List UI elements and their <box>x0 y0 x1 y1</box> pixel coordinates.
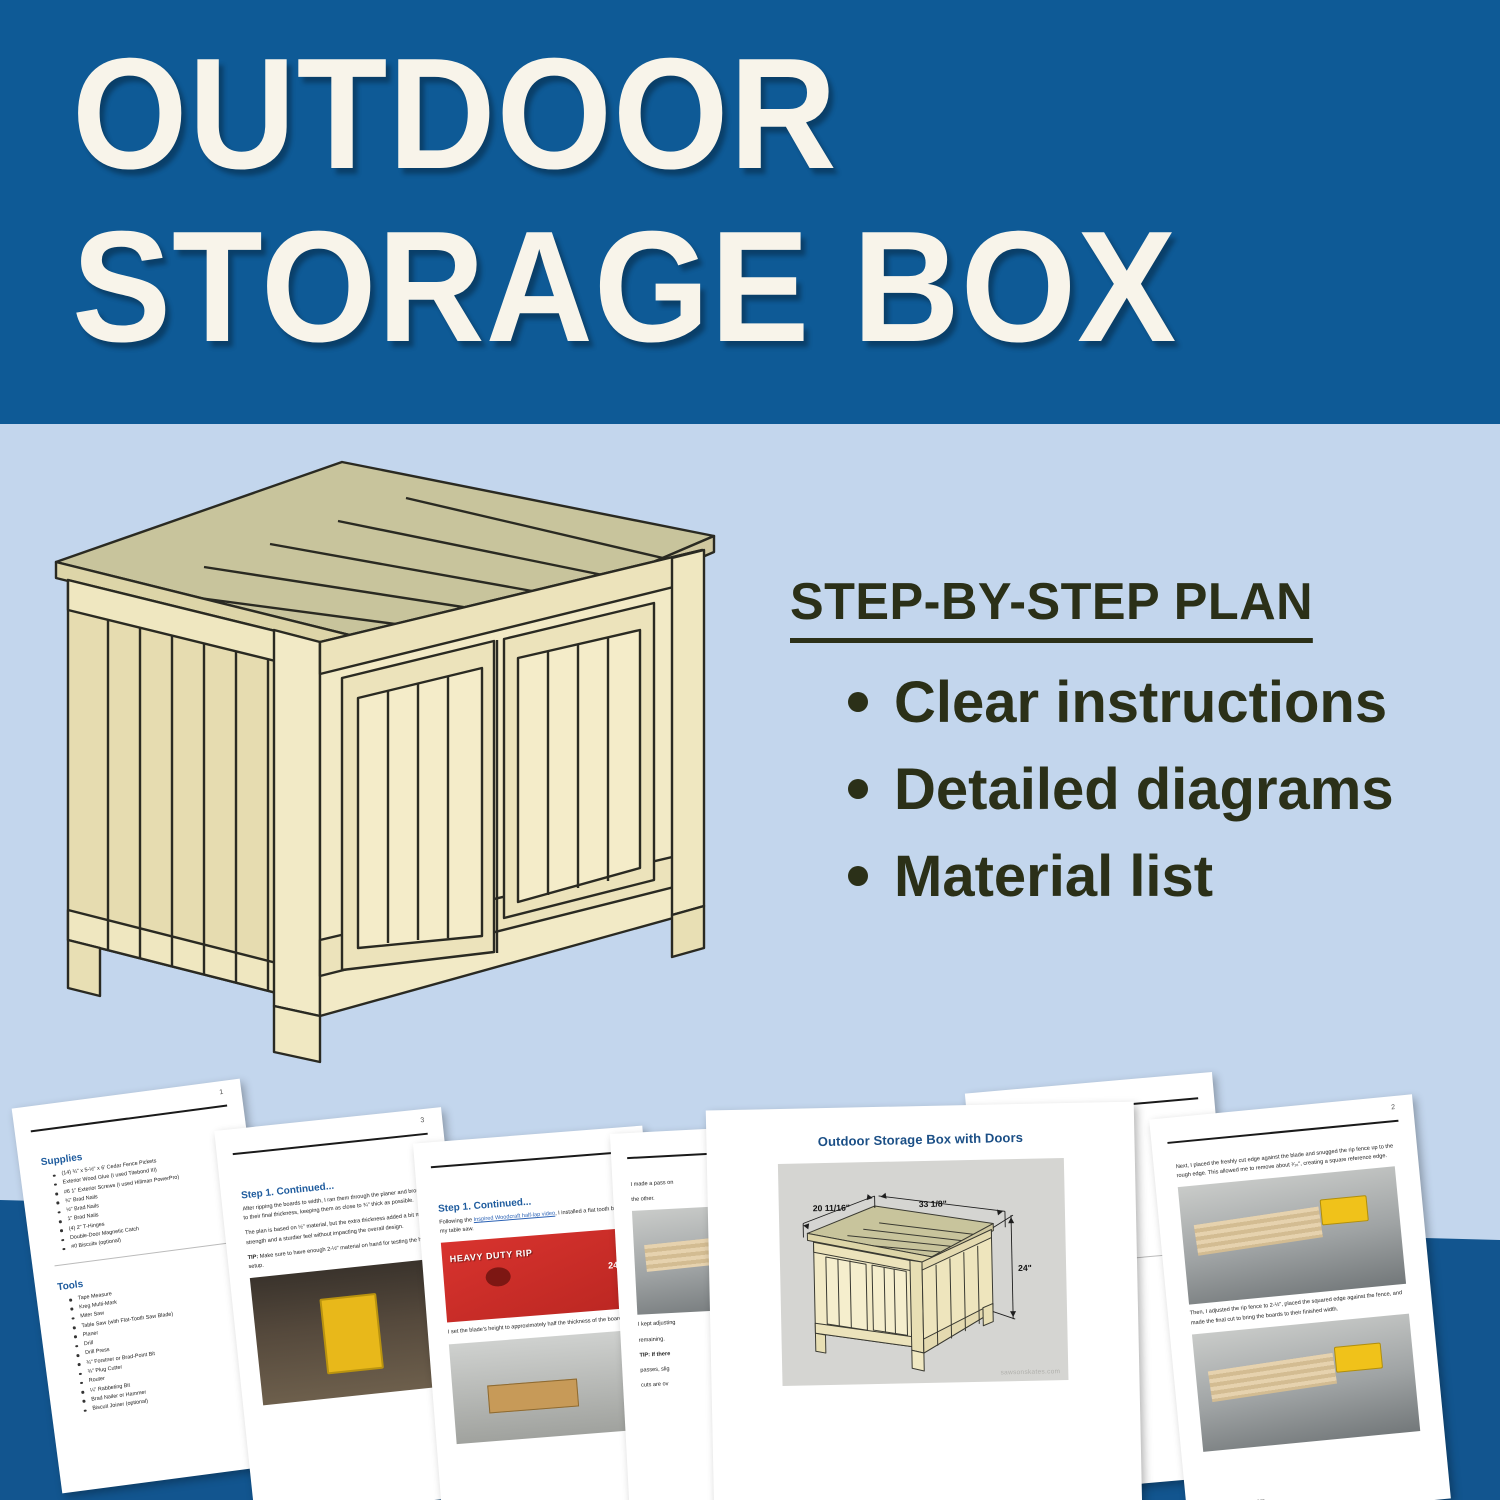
dim-width-label: 33 1/8" <box>919 1199 947 1210</box>
header-rule <box>431 1151 629 1169</box>
list-item: Clear instructions <box>848 673 1450 734</box>
bullet-icon <box>848 692 868 712</box>
features-heading: STEP-BY-STEP PLAN <box>790 572 1313 643</box>
diagram-title: Outdoor Storage Box with Doors <box>706 1128 1134 1152</box>
bullet-icon <box>848 866 868 886</box>
list-item: Detailed diagrams <box>848 760 1450 821</box>
header-rule <box>233 1133 428 1155</box>
push-block <box>1319 1195 1369 1225</box>
page-preview-rip-fence[interactable]: 2 Next, I placed the freshly cut edge ag… <box>1149 1094 1451 1500</box>
wood-stack <box>1208 1353 1338 1402</box>
product-illustration <box>42 440 732 1065</box>
list-item: Material list <box>848 847 1450 908</box>
bullet-icon <box>848 779 868 799</box>
page-preview-diagram[interactable]: Outdoor Storage Box with Doors <box>706 1102 1142 1500</box>
feature-label: Clear instructions <box>894 673 1387 734</box>
diagram-canvas: 20 11/16" 33 1/8" 24" sawsonskates.com <box>778 1158 1069 1386</box>
header-band: OUTDOOR STORAGE BOX <box>0 0 1500 424</box>
page-number: 3 <box>420 1117 425 1124</box>
photo-saw-blade: HEAVY DUTY RIP 24T <box>441 1228 639 1323</box>
title-line-storage-box: STORAGE BOX <box>72 211 1350 364</box>
poster-canvas: OUTDOOR STORAGE BOX <box>0 0 1500 1500</box>
page-number: 1 <box>219 1089 224 1096</box>
watermark: sawsonskates.com <box>1001 1368 1061 1376</box>
photo-rip-cut-2 <box>1192 1313 1420 1451</box>
push-block <box>1333 1342 1383 1372</box>
tip-label: TIP: <box>247 1254 258 1261</box>
dim-height-label: 24" <box>1018 1263 1032 1273</box>
intro-prefix: Following the <box>439 1217 474 1226</box>
dim-depth-label: 20 11/16" <box>813 1203 850 1214</box>
features-panel: STEP-BY-STEP PLAN Clear instructions Det… <box>790 572 1450 934</box>
photo-hand-marking <box>449 1329 648 1444</box>
title-line-outdoor: OUTDOOR <box>72 38 1350 191</box>
header-rule <box>31 1105 228 1133</box>
features-list: Clear instructions Detailed diagrams Mat… <box>790 673 1450 908</box>
page-number: 2 <box>1391 1104 1396 1111</box>
video-link[interactable]: Inspired Woodcraft half-lap video <box>473 1211 555 1223</box>
blade-label: HEAVY DUTY RIP <box>449 1241 611 1264</box>
photo-planer <box>250 1260 438 1406</box>
feature-label: Detailed diagrams <box>894 760 1394 821</box>
wood-stack <box>1194 1206 1324 1255</box>
header-rule <box>1167 1120 1398 1144</box>
document-previews: 1 Supplies (14) ¾" x 5-½" x 6' Cedar Fen… <box>0 1040 1500 1500</box>
feature-label: Material list <box>894 847 1213 908</box>
page-title: OUTDOOR STORAGE BOX <box>72 38 1432 365</box>
photo-rip-cut-1 <box>1178 1167 1406 1305</box>
